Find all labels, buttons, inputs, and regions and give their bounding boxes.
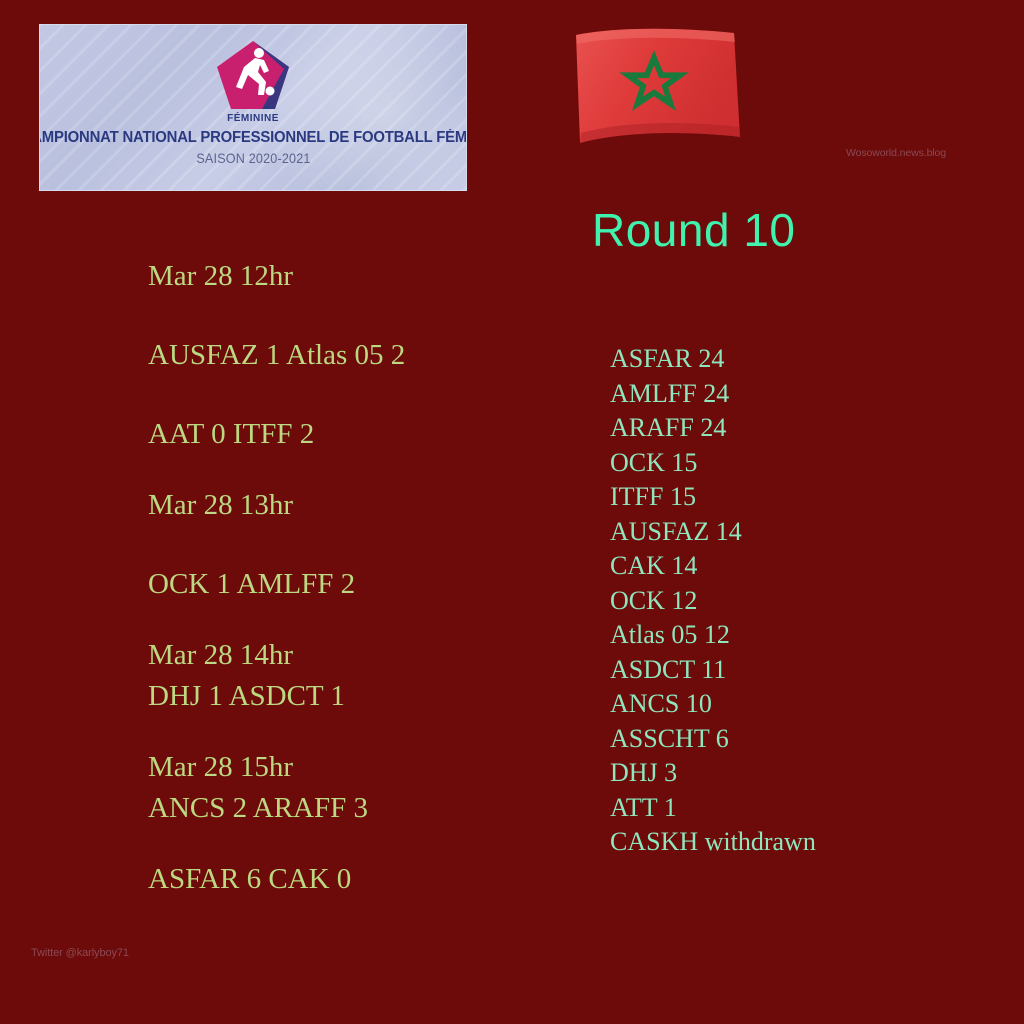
standings-column: ASFAR 24AMLFF 24ARAFF 24OCK 15ITFF 15AUS… (610, 342, 970, 860)
standings-row: ANCS 10 (610, 687, 970, 722)
fixture-time: Mar 28 12hr (148, 256, 548, 297)
banner-season: SAISON 2020-2021 (196, 150, 310, 166)
fixture-result: ANCS 2 ARAFF 3 (148, 788, 548, 829)
round-title: Round 10 (592, 203, 796, 257)
morocco-flag-icon (568, 25, 748, 157)
standings-row: OCK 15 (610, 446, 970, 481)
fixture-group: Mar 28 15hrANCS 2 ARAFF 3 (148, 747, 548, 829)
fixture-group: Mar 28 12hrAUSFAZ 1 Atlas 05 2AAT 0 ITFF… (148, 256, 548, 455)
standings-row: AUSFAZ 14 (610, 515, 970, 550)
standings-row: AMLFF 24 (610, 377, 970, 412)
standings-row: ATT 1 (610, 791, 970, 826)
standings-row: ASDCT 11 (610, 653, 970, 688)
site-watermark: Wosoworld.news.blog (846, 147, 946, 159)
standings-row: ITFF 15 (610, 480, 970, 515)
fixture-result: AAT 0 ITFF 2 (148, 414, 548, 455)
svg-text:FÉMININE: FÉMININE (227, 111, 279, 124)
fixture-group: ASFAR 6 CAK 0 (148, 859, 548, 900)
fixture-group: Mar 28 13hrOCK 1 AMLFF 2 (148, 485, 548, 605)
twitter-credit: Twitter @karlyboy71 (31, 947, 129, 959)
standings-row: ASSCHT 6 (610, 722, 970, 757)
standings-row: ARAFF 24 (610, 411, 970, 446)
standings-row: Atlas 05 12 (610, 618, 970, 653)
standings-row: CAK 14 (610, 549, 970, 584)
fixture-time: Mar 28 14hr (148, 635, 548, 676)
fixture-result: ASFAR 6 CAK 0 (148, 859, 548, 900)
fixture-result: DHJ 1 ASDCT 1 (148, 676, 548, 717)
fixture-result: OCK 1 AMLFF 2 (148, 564, 548, 605)
fixture-time: Mar 28 13hr (148, 485, 548, 526)
fixture-result: AUSFAZ 1 Atlas 05 2 (148, 335, 548, 376)
feminine-crest-icon: FÉMININE (214, 39, 292, 125)
league-crest-logo: FÉMININE (214, 39, 292, 125)
fixtures-column: Mar 28 12hrAUSFAZ 1 Atlas 05 2AAT 0 ITFF… (148, 256, 548, 930)
standings-row: CASKH withdrawn (610, 825, 970, 860)
fixture-time: Mar 28 15hr (148, 747, 548, 788)
standings-row: OCK 12 (610, 584, 970, 619)
standings-row: ASFAR 24 (610, 342, 970, 377)
standings-row: DHJ 3 (610, 756, 970, 791)
league-banner: FÉMININE CHAMPIONNAT NATIONAL PROFESSION… (39, 24, 467, 191)
banner-title: CHAMPIONNAT NATIONAL PROFESSIONNEL DE FO… (39, 129, 467, 147)
fixture-group: Mar 28 14hrDHJ 1 ASDCT 1 (148, 635, 548, 717)
